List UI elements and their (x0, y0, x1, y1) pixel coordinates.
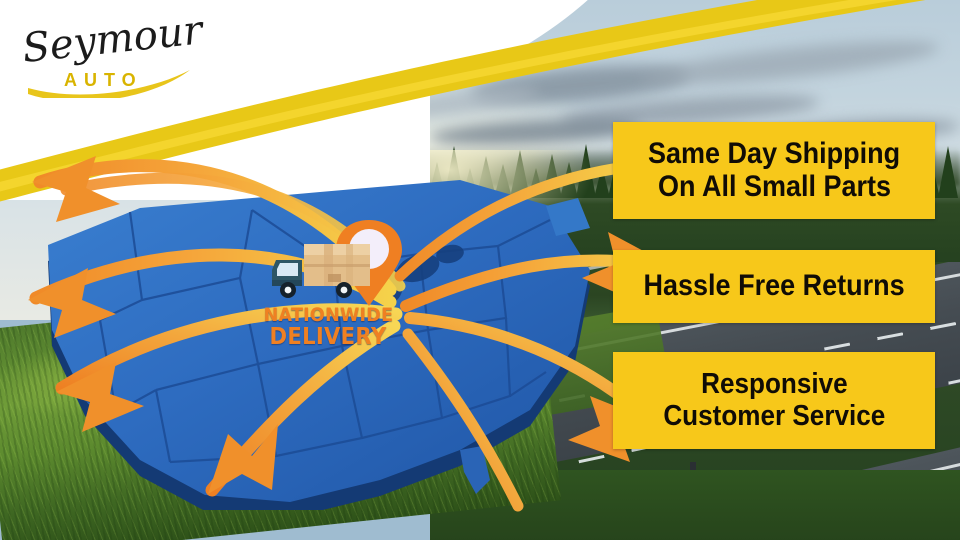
panel-3-line-1: Responsive (701, 369, 848, 400)
panel-1-line-1: Same Day Shipping (648, 138, 900, 170)
panel-3-line-2: Customer Service (663, 401, 885, 432)
feature-panel-responsive-customer-service[interactable]: Responsive Customer Service (613, 352, 935, 449)
panel-1-line-2: On All Small Parts (657, 171, 890, 203)
delivery-truck-icon (268, 240, 378, 302)
nationwide-delivery-caption: NATIONWIDE DELIVERY (258, 306, 398, 350)
feature-panel-hassle-free-returns[interactable]: Hassle Free Returns (613, 250, 935, 323)
caption-line-2: DELIVERY (264, 326, 393, 350)
feature-panel-same-day-shipping[interactable]: Same Day Shipping On All Small Parts (613, 122, 935, 219)
promo-banner: Seymour AUTO (0, 0, 960, 540)
logo-script-text: Seymour (20, 18, 207, 72)
panel-2-line-1: Hassle Free Returns (643, 270, 904, 302)
